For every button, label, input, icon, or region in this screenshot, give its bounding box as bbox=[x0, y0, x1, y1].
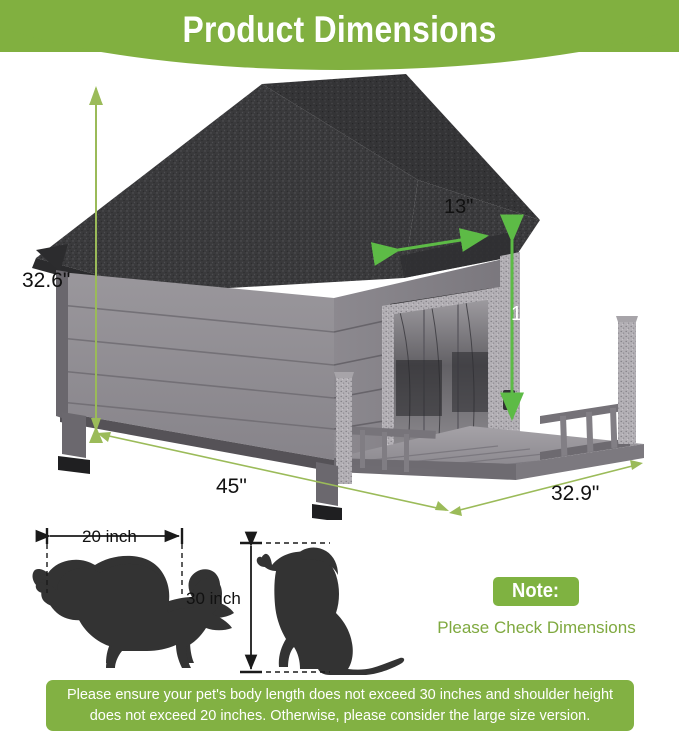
dimension-label-dog-length: 20 inch bbox=[82, 527, 137, 547]
note-subtitle: Please Check Dimensions bbox=[404, 618, 669, 638]
dimension-label-door-height: 16.4" bbox=[511, 303, 557, 326]
porch-post-right bbox=[618, 322, 636, 444]
porch-post-front-left bbox=[336, 378, 352, 484]
dimension-label-height: 32.6" bbox=[22, 269, 70, 293]
house-leg-left-upper bbox=[62, 412, 86, 458]
footer-line-1: Please ensure your pet's body length doe… bbox=[67, 687, 613, 703]
dimension-arrow-height-top bbox=[91, 86, 101, 100]
dimension-label-depth: 32.9" bbox=[551, 482, 599, 506]
house-front-wall bbox=[60, 272, 334, 460]
dimension-label-width: 45" bbox=[216, 475, 247, 499]
note-badge-label: Note: bbox=[512, 580, 559, 603]
house-leg-left-foot bbox=[58, 456, 90, 474]
page-title: Product Dimensions bbox=[48, 9, 632, 51]
footer-line-2: does not exceed 20 inches. Otherwise, pl… bbox=[90, 708, 591, 724]
dimension-arrow-width-right bbox=[435, 501, 449, 511]
dog-sitting-silhouette bbox=[257, 552, 404, 675]
product-illustration: 32.6" 45" 32.9" 13" 16.4" bbox=[0, 60, 679, 520]
dog-house-drawing bbox=[0, 60, 679, 520]
dimension-arrow-depth-right bbox=[630, 460, 643, 470]
dimension-label-door-width: 13" bbox=[444, 196, 473, 219]
footer-banner: Please ensure your pet's body length doe… bbox=[46, 680, 634, 731]
footer-text: Please ensure your pet's body length doe… bbox=[46, 685, 634, 727]
dimension-arrow-width-left bbox=[97, 432, 111, 442]
dimension-label-dog-height: 30 inch bbox=[186, 589, 241, 609]
note-badge: Note: bbox=[493, 577, 579, 606]
door-interior-shadow bbox=[396, 352, 488, 416]
infographic-canvas: Product Dimensions bbox=[0, 0, 679, 746]
